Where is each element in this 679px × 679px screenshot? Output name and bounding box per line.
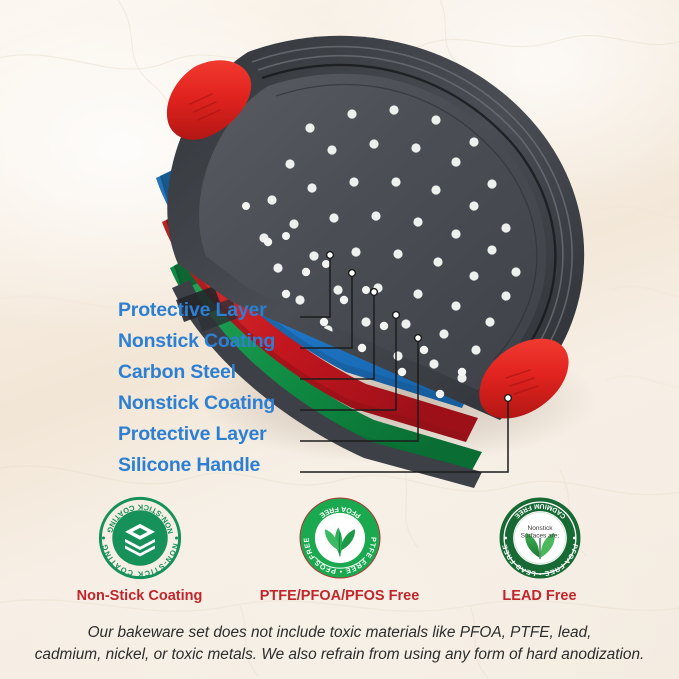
callout-label-silicone-handle: Silicone Handle <box>118 456 260 476</box>
disclaimer-text: Our bakeware set does not include toxic … <box>0 622 679 666</box>
badge-caption-non-stick-coating: Non-Stick Coating <box>77 588 203 605</box>
badge1-caption-line1: Non-Stick <box>77 588 145 604</box>
infographic-canvas: Protective Layer Nonstick Coating Carbon… <box>0 0 679 679</box>
non-stick-coating-seal-icon: NON-STICK COATING NON-STICK COATING <box>96 494 184 582</box>
badge3-caption-line1: LEAD Free <box>502 588 576 604</box>
badge3-center-line1: Nonstick <box>527 525 553 532</box>
callout-label-nonstick-coating-bottom: Nonstick Coating <box>118 394 275 414</box>
badge2-caption-line1: PTFE/PFOA/PFOS <box>260 588 385 604</box>
callout-label-carbon-steel: Carbon Steel <box>118 363 236 383</box>
ptfe-free-seal-icon: PTFE FREE • PFOS FREE PFOA FREE <box>296 494 384 582</box>
badge1-caption-line2: Coating <box>148 588 202 604</box>
badge2-caption-line2: Free <box>389 588 420 604</box>
badge-lead-free: Nonstick Surfaces are: PFOA FREE • LEAD … <box>440 494 640 605</box>
certification-badges: NON-STICK COATING NON-STICK COATING Non-… <box>0 494 679 622</box>
badge-caption-lead-free: LEAD Free <box>502 588 576 605</box>
badge-caption-ptfe-pfoa-pfos-free: PTFE/PFOA/PFOS Free <box>260 588 420 605</box>
badge3-center-line2: Surfaces are: <box>520 533 559 540</box>
lead-free-seal-icon: Nonstick Surfaces are: PFOA FREE • LEAD … <box>496 494 584 582</box>
callout-labels: Protective Layer Nonstick Coating Carbon… <box>0 0 679 500</box>
badge-ptfe-pfoa-pfos-free: PTFE FREE • PFOS FREE PFOA FREE PTFE/PFO… <box>240 494 440 605</box>
callout-label-protective-layer-bottom: Protective Layer <box>118 425 267 445</box>
callout-label-protective-layer-top: Protective Layer <box>118 301 267 321</box>
disclaimer-line-2: cadmium, nickel, or toxic metals. We als… <box>26 644 653 666</box>
callout-label-nonstick-coating-top: Nonstick Coating <box>118 332 275 352</box>
disclaimer-line-1: Our bakeware set does not include toxic … <box>26 622 653 644</box>
badge-non-stick-coating: NON-STICK COATING NON-STICK COATING Non-… <box>40 494 240 605</box>
